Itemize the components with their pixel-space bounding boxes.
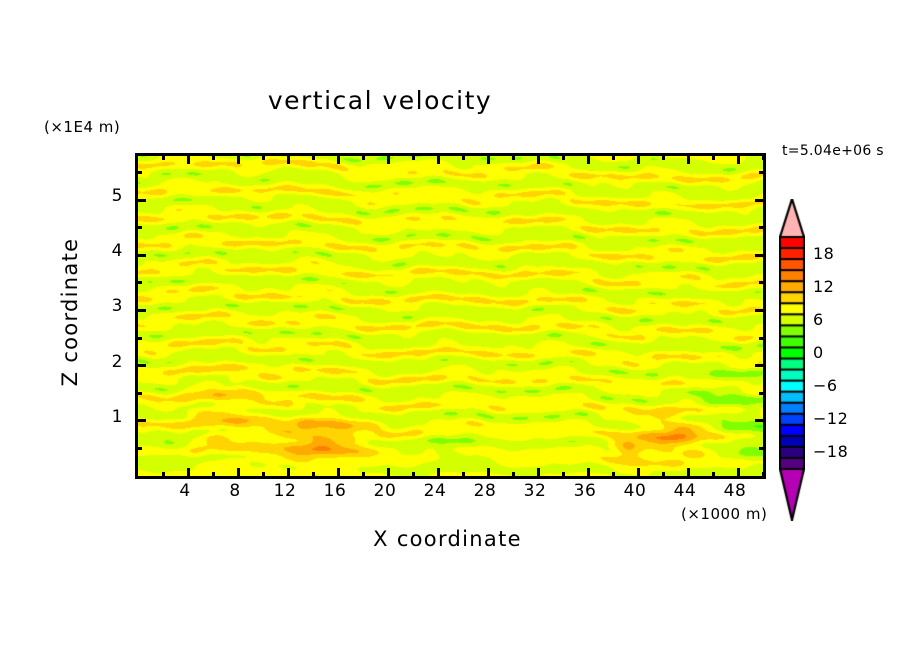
x-axis-tick [687,468,690,479]
y-axis-tick-right [755,419,766,422]
x-axis-title: X coordinate [135,527,760,551]
x-axis-tick-label: 44 [663,481,707,501]
x-axis-tick-top [512,153,515,160]
x-axis-tick-top [637,153,640,164]
y-axis-tick-label: 1 [97,407,123,427]
y-axis-tick [135,199,146,202]
y-axis-tick [135,309,146,312]
y-axis-tick-right [759,337,766,340]
x-axis-tick [637,468,640,479]
y-axis-tick-right [759,281,766,284]
x-axis-tick-top [287,153,290,164]
x-axis-tick [512,472,515,479]
x-axis-tick [387,468,390,479]
x-axis-tick-top [262,153,265,160]
y-axis-tick [135,364,146,367]
colorbar-tick-label: −6 [813,376,838,395]
x-axis-tick [437,468,440,479]
colorbar-tick-label: 12 [813,277,834,296]
x-axis-tick-top [162,153,165,160]
x-axis-tick [262,472,265,479]
page-title: vertical velocity [0,86,760,115]
x-axis-tick [462,472,465,479]
x-axis-tick [337,468,340,479]
x-axis-tick-top [412,153,415,160]
x-axis-tick-top [737,153,740,164]
y-axis-tick [135,392,142,395]
x-axis-tick [412,472,415,479]
colorbar-tick-label: −18 [813,442,848,461]
colorbar-tick-label: 6 [813,310,824,329]
y-axis-tick-right [759,392,766,395]
x-axis-tick-top [362,153,365,160]
y-axis-unit-label: (×1E4 m) [44,118,120,136]
contour-field-canvas [138,156,763,476]
y-axis-title: Z coordinate [58,212,82,412]
x-axis-tick [587,468,590,479]
x-axis-tick-top [662,153,665,160]
x-axis-unit-label: (×1000 m) [681,505,767,523]
y-axis-tick-right [759,226,766,229]
y-axis-tick-right [759,171,766,174]
x-axis-tick [712,472,715,479]
x-axis-tick [487,468,490,479]
x-axis-tick-label: 48 [713,481,757,501]
x-axis-tick [612,472,615,479]
x-axis-tick-top [612,153,615,160]
y-axis-tick-right [755,254,766,257]
x-axis-tick [162,472,165,479]
x-axis-tick-top [187,153,190,164]
y-axis-tick [135,419,146,422]
colorbar-canvas [779,199,805,521]
x-axis-tick-top [437,153,440,164]
x-axis-tick [562,472,565,479]
y-axis-tick [135,281,142,284]
x-axis-tick-label: 20 [363,481,407,501]
x-axis-tick-top [537,153,540,164]
x-axis-tick-label: 28 [463,481,507,501]
timestamp-annotation: t=5.04e+06 s [782,143,884,159]
x-axis-tick [762,472,765,479]
x-axis-tick-label: 12 [263,481,307,501]
x-axis-tick-top [587,153,590,164]
x-axis-tick-top [487,153,490,164]
x-axis-tick [362,472,365,479]
x-axis-tick-label: 4 [163,481,207,501]
x-axis-tick-label: 32 [513,481,557,501]
x-axis-tick-top [712,153,715,160]
x-axis-tick-top [562,153,565,160]
y-axis-tick-label: 5 [97,186,123,206]
y-axis-tick-label: 4 [97,241,123,261]
x-axis-tick [662,472,665,479]
x-axis-tick-top [687,153,690,164]
x-axis-tick-label: 24 [413,481,457,501]
x-axis-tick-label: 8 [213,481,257,501]
x-axis-tick-top [237,153,240,164]
colorbar [779,199,805,521]
y-axis-tick-right [755,309,766,312]
x-axis-tick [237,468,240,479]
y-axis-tick-right [755,199,766,202]
contour-plot-area [135,153,766,479]
x-axis-tick [287,468,290,479]
y-axis-tick [135,254,146,257]
x-axis-tick [737,468,740,479]
y-axis-tick [135,447,142,450]
x-axis-tick-top [462,153,465,160]
x-axis-tick [187,468,190,479]
x-axis-tick-top [212,153,215,160]
y-axis-tick-label: 2 [97,352,123,372]
x-axis-tick [212,472,215,479]
colorbar-tick-label: 0 [813,343,824,362]
colorbar-tick-label: −12 [813,409,848,428]
x-axis-tick-label: 40 [613,481,657,501]
x-axis-tick [537,468,540,479]
x-axis-tick-top [337,153,340,164]
y-axis-tick [135,171,142,174]
y-axis-tick [135,337,142,340]
x-axis-tick-top [762,153,765,160]
x-axis-tick [312,472,315,479]
y-axis-tick-right [755,364,766,367]
y-axis-tick-right [759,447,766,450]
x-axis-tick-top [312,153,315,160]
y-axis-tick-label: 3 [97,296,123,316]
colorbar-tick-label: 18 [813,244,834,263]
x-axis-tick-label: 16 [313,481,357,501]
x-axis-tick-label: 36 [563,481,607,501]
y-axis-tick [135,226,142,229]
x-axis-tick-top [387,153,390,164]
